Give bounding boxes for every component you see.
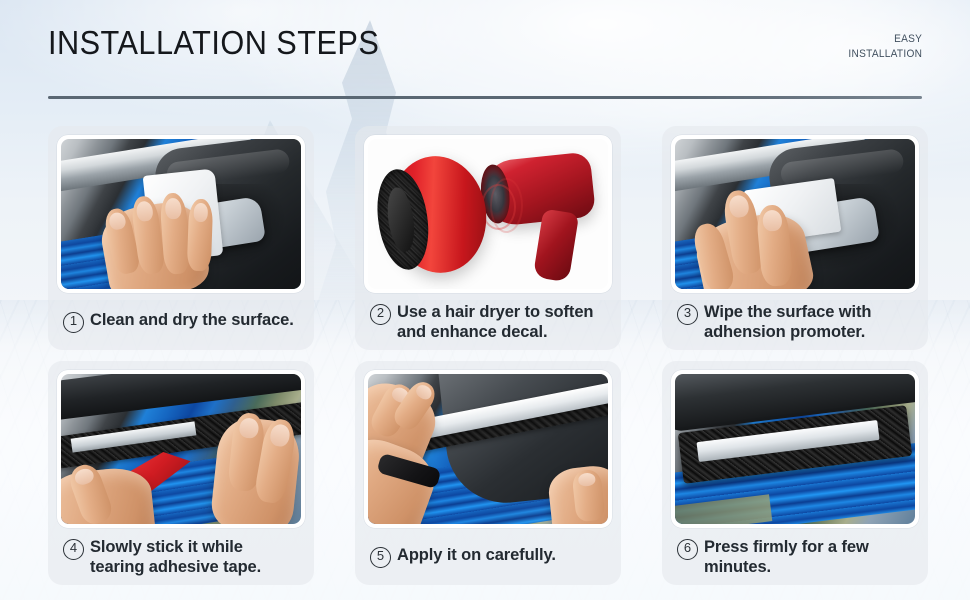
step-card-1: 1 Clean and dry the surface.	[48, 126, 314, 350]
header-divider	[48, 96, 922, 99]
step-text-6: Press firmly for a few minutes.	[704, 537, 869, 577]
step-text-2-line2: and enhance decal.	[397, 322, 593, 342]
installation-steps-page: INSTALLATION STEPS EASY INSTALLATION	[0, 0, 970, 600]
step-number-4: 4	[63, 539, 84, 560]
header-tagline-line1: EASY	[848, 32, 922, 47]
step-caption-3: 3 Wipe the surface with adhension promot…	[671, 293, 919, 350]
step-photo-1	[57, 135, 305, 293]
step-number-6: 6	[677, 539, 698, 560]
step-text-3: Wipe the surface with adhension promoter…	[704, 302, 871, 342]
scene-wipe-sill-wipe	[675, 139, 915, 289]
step-text-3-line2: adhension promoter.	[704, 322, 871, 342]
step-text-5-line1: Apply it on carefully.	[397, 546, 556, 564]
step-text-2-line1: Use a hair dryer to soften	[397, 303, 593, 321]
header-tagline-line2: INSTALLATION	[848, 47, 922, 62]
scene-finished-result	[675, 374, 915, 524]
step-text-6-line1: Press firmly for a few	[704, 538, 869, 556]
step-text-4: Slowly stick it while tearing adhesive t…	[90, 537, 261, 577]
step-text-1: Clean and dry the surface.	[90, 310, 294, 330]
step-number-1: 1	[63, 312, 84, 333]
step-text-4-line2: tearing adhesive tape.	[90, 557, 261, 577]
step-number-5: 5	[370, 547, 391, 568]
step-card-5: 5 Apply it on carefully.	[355, 361, 621, 585]
scene-long-strip-apply	[368, 374, 608, 524]
step-text-3-line1: Wipe the surface with	[704, 303, 871, 321]
step-photo-5	[364, 370, 612, 528]
page-title: INSTALLATION STEPS	[48, 24, 379, 62]
step-number-3: 3	[677, 304, 698, 325]
step-caption-6: 6 Press firmly for a few minutes.	[671, 528, 919, 585]
step-caption-4: 4 Slowly stick it while tearing adhesive…	[57, 528, 305, 585]
step-text-4-line1: Slowly stick it while	[90, 538, 243, 556]
steps-grid: 1 Clean and dry the surface.	[48, 126, 922, 585]
step-text-1-line1: Clean and dry the surface.	[90, 311, 294, 329]
step-number-2: 2	[370, 304, 391, 325]
scene-squeegee-apply	[61, 374, 301, 524]
step-photo-6	[671, 370, 919, 528]
step-text-2: Use a hair dryer to soften and enhance d…	[397, 302, 593, 342]
step-caption-2: 2 Use a hair dryer to soften and enhance…	[364, 293, 612, 350]
step-caption-5: 5 Apply it on carefully.	[364, 528, 612, 585]
step-text-6-line2: minutes.	[704, 557, 869, 577]
scene-tape-roll-hairdryer	[368, 139, 608, 289]
step-photo-4	[57, 370, 305, 528]
step-photo-2	[364, 135, 612, 293]
step-photo-3	[671, 135, 919, 293]
step-card-2: 2 Use a hair dryer to soften and enhance…	[355, 126, 621, 350]
page-header: INSTALLATION STEPS EASY INSTALLATION	[0, 0, 970, 108]
step-card-3: 3 Wipe the surface with adhension promot…	[662, 126, 928, 350]
scene-wipe-sill-cloth	[61, 139, 301, 289]
step-card-6: 6 Press firmly for a few minutes.	[662, 361, 928, 585]
header-tagline: EASY INSTALLATION	[848, 32, 922, 62]
step-caption-1: 1 Clean and dry the surface.	[57, 293, 305, 350]
step-card-4: 4 Slowly stick it while tearing adhesive…	[48, 361, 314, 585]
step-text-5: Apply it on carefully.	[397, 545, 556, 565]
